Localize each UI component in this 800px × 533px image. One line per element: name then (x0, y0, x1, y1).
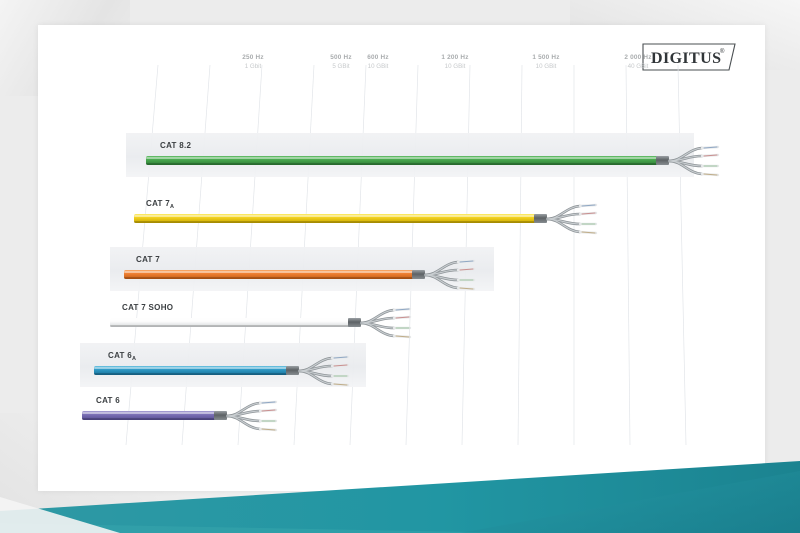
axis-tick-1200hz: 1 200 Hz 10 GBit (441, 53, 468, 71)
cable-body-cat7a (134, 214, 536, 223)
axis-tick-label-rate: 40 GBit (624, 62, 651, 71)
cable-label-cat6: CAT 6 (96, 396, 120, 405)
cable-label-cat8-2: CAT 8.2 (160, 141, 191, 150)
cable-row-cat8-2: CAT 8.2 (38, 125, 765, 181)
cable-label-cat7-soho: CAT 7 SOHO (122, 303, 173, 312)
cable-pairs-svg (226, 399, 288, 433)
axis-tick-250hz: 250 Hz 1 Gbit (242, 53, 263, 71)
cable-jacket (82, 411, 216, 420)
cable-jacket (110, 318, 350, 327)
cable-pairs-fanout (668, 144, 730, 178)
axis-tick-label-hz: 2 000 Hz (624, 53, 651, 62)
cable-label-cat7a: CAT 7A (146, 199, 174, 208)
cable-jacket (134, 214, 536, 223)
axis-tick-label-hz: 250 Hz (242, 53, 263, 62)
axis-tick-label-hz: 600 Hz (367, 53, 388, 62)
cable-pairs-svg (668, 144, 730, 178)
cable-label-subscript: A (170, 204, 174, 210)
cable-body-cat6 (82, 411, 216, 420)
cable-pairs-fanout (226, 399, 288, 433)
axis-tick-2000hz: 2 000 Hz 40 GBit (624, 53, 651, 71)
cable-row-cat7a: CAT 7A (38, 183, 765, 239)
cable-body-cat6a (94, 366, 288, 375)
cable-label-text: CAT 8.2 (160, 141, 191, 150)
cable-body-cat7-soho (110, 318, 350, 327)
content-card: DIGITUS ® 250 Hz (38, 25, 765, 491)
axis-tick-600hz: 600 Hz 10 GBit (367, 53, 388, 71)
axis-tick-1500hz: 1 500 Hz 10 GBit (532, 53, 559, 71)
cable-label-cat7: CAT 7 (136, 255, 160, 264)
cable-bandwidth-chart: 250 Hz 1 Gbit 500 Hz 5 GBit 600 Hz 10 GB… (38, 25, 765, 491)
cable-body-cat8-2 (146, 156, 658, 165)
cable-jacket (146, 156, 658, 165)
cable-jacket (124, 270, 414, 279)
cable-label-text: CAT 6 (96, 396, 120, 405)
axis-tick-label-rate: 10 GBit (441, 62, 468, 71)
cable-label-subscript: A (132, 356, 136, 362)
axis-tick-label-rate: 5 GBit (330, 62, 351, 71)
cable-label-text: CAT 6 (108, 351, 132, 360)
frequency-scale: 250 Hz 1 Gbit 500 Hz 5 GBit 600 Hz 10 GB… (38, 25, 765, 65)
cable-row-cat6: CAT 6 (38, 380, 765, 436)
axis-tick-500hz: 500 Hz 5 GBit (330, 53, 351, 71)
cable-body-cat7 (124, 270, 414, 279)
cable-label-text: CAT 7 (146, 199, 170, 208)
cable-jacket (94, 366, 288, 375)
cable-pairs-svg (546, 202, 608, 236)
axis-tick-label-hz: 1 500 Hz (532, 53, 559, 62)
cable-label-text: CAT 7 SOHO (122, 303, 173, 312)
axis-tick-label-hz: 1 200 Hz (441, 53, 468, 62)
row-band (126, 133, 694, 177)
cable-label-cat6a: CAT 6A (108, 351, 136, 360)
axis-tick-label-rate: 10 GBit (367, 62, 388, 71)
cable-pairs-fanout (546, 202, 608, 236)
cable-label-text: CAT 7 (136, 255, 160, 264)
axis-tick-label-rate: 10 GBit (532, 62, 559, 71)
axis-tick-label-hz: 500 Hz (330, 53, 351, 62)
axis-tick-label-rate: 1 Gbit (242, 62, 263, 71)
